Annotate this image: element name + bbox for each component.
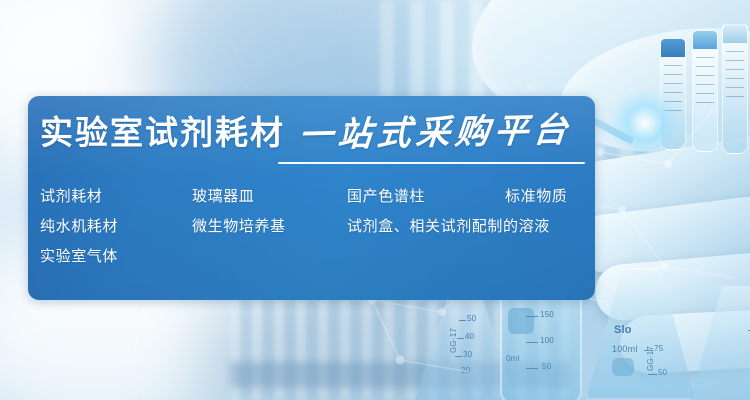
category-item-reference-materials[interactable]: 标准物质	[505, 185, 567, 206]
category-row-1: 试剂耗材 玻璃器皿 国产色谱柱 标准物质	[40, 180, 585, 210]
promo-banner: 50 40 30 20 GG-17 250 APPROX 200 150 100…	[0, 0, 750, 400]
title-underline	[278, 162, 585, 164]
category-row-3: 实验室气体	[40, 240, 585, 270]
category-list: 试剂耗材 玻璃器皿 国产色谱柱 标准物质 纯水机耗材 微生物培养基 试剂盒、相关…	[40, 180, 585, 270]
category-row-2: 纯水机耗材 微生物培养基 试剂盒、相关试剂配制的溶液	[40, 210, 585, 240]
category-item-domestic-chromatography-column[interactable]: 国产色谱柱	[347, 185, 505, 206]
blue-content-panel: 实验室试剂耗材 一站式采购平台 试剂耗材 玻璃器皿 国产色谱柱 标准物质 纯水机…	[28, 96, 595, 300]
title-row: 实验室试剂耗材 一站式采购平台	[40, 116, 572, 150]
category-item-microbial-culture-media[interactable]: 微生物培养基	[192, 215, 347, 236]
category-item-laboratory-gases[interactable]: 实验室气体	[40, 245, 192, 266]
category-item-reagent-consumables[interactable]: 试剂耗材	[40, 185, 192, 206]
category-item-water-purifier-consumables[interactable]: 纯水机耗材	[40, 215, 192, 236]
category-item-reagent-kits-solutions[interactable]: 试剂盒、相关试剂配制的溶液	[347, 215, 550, 236]
category-item-glassware[interactable]: 玻璃器皿	[192, 185, 347, 206]
page-title: 实验室试剂耗材	[40, 116, 285, 149]
title-calligraphy: 一站式采购平台	[297, 113, 573, 153]
